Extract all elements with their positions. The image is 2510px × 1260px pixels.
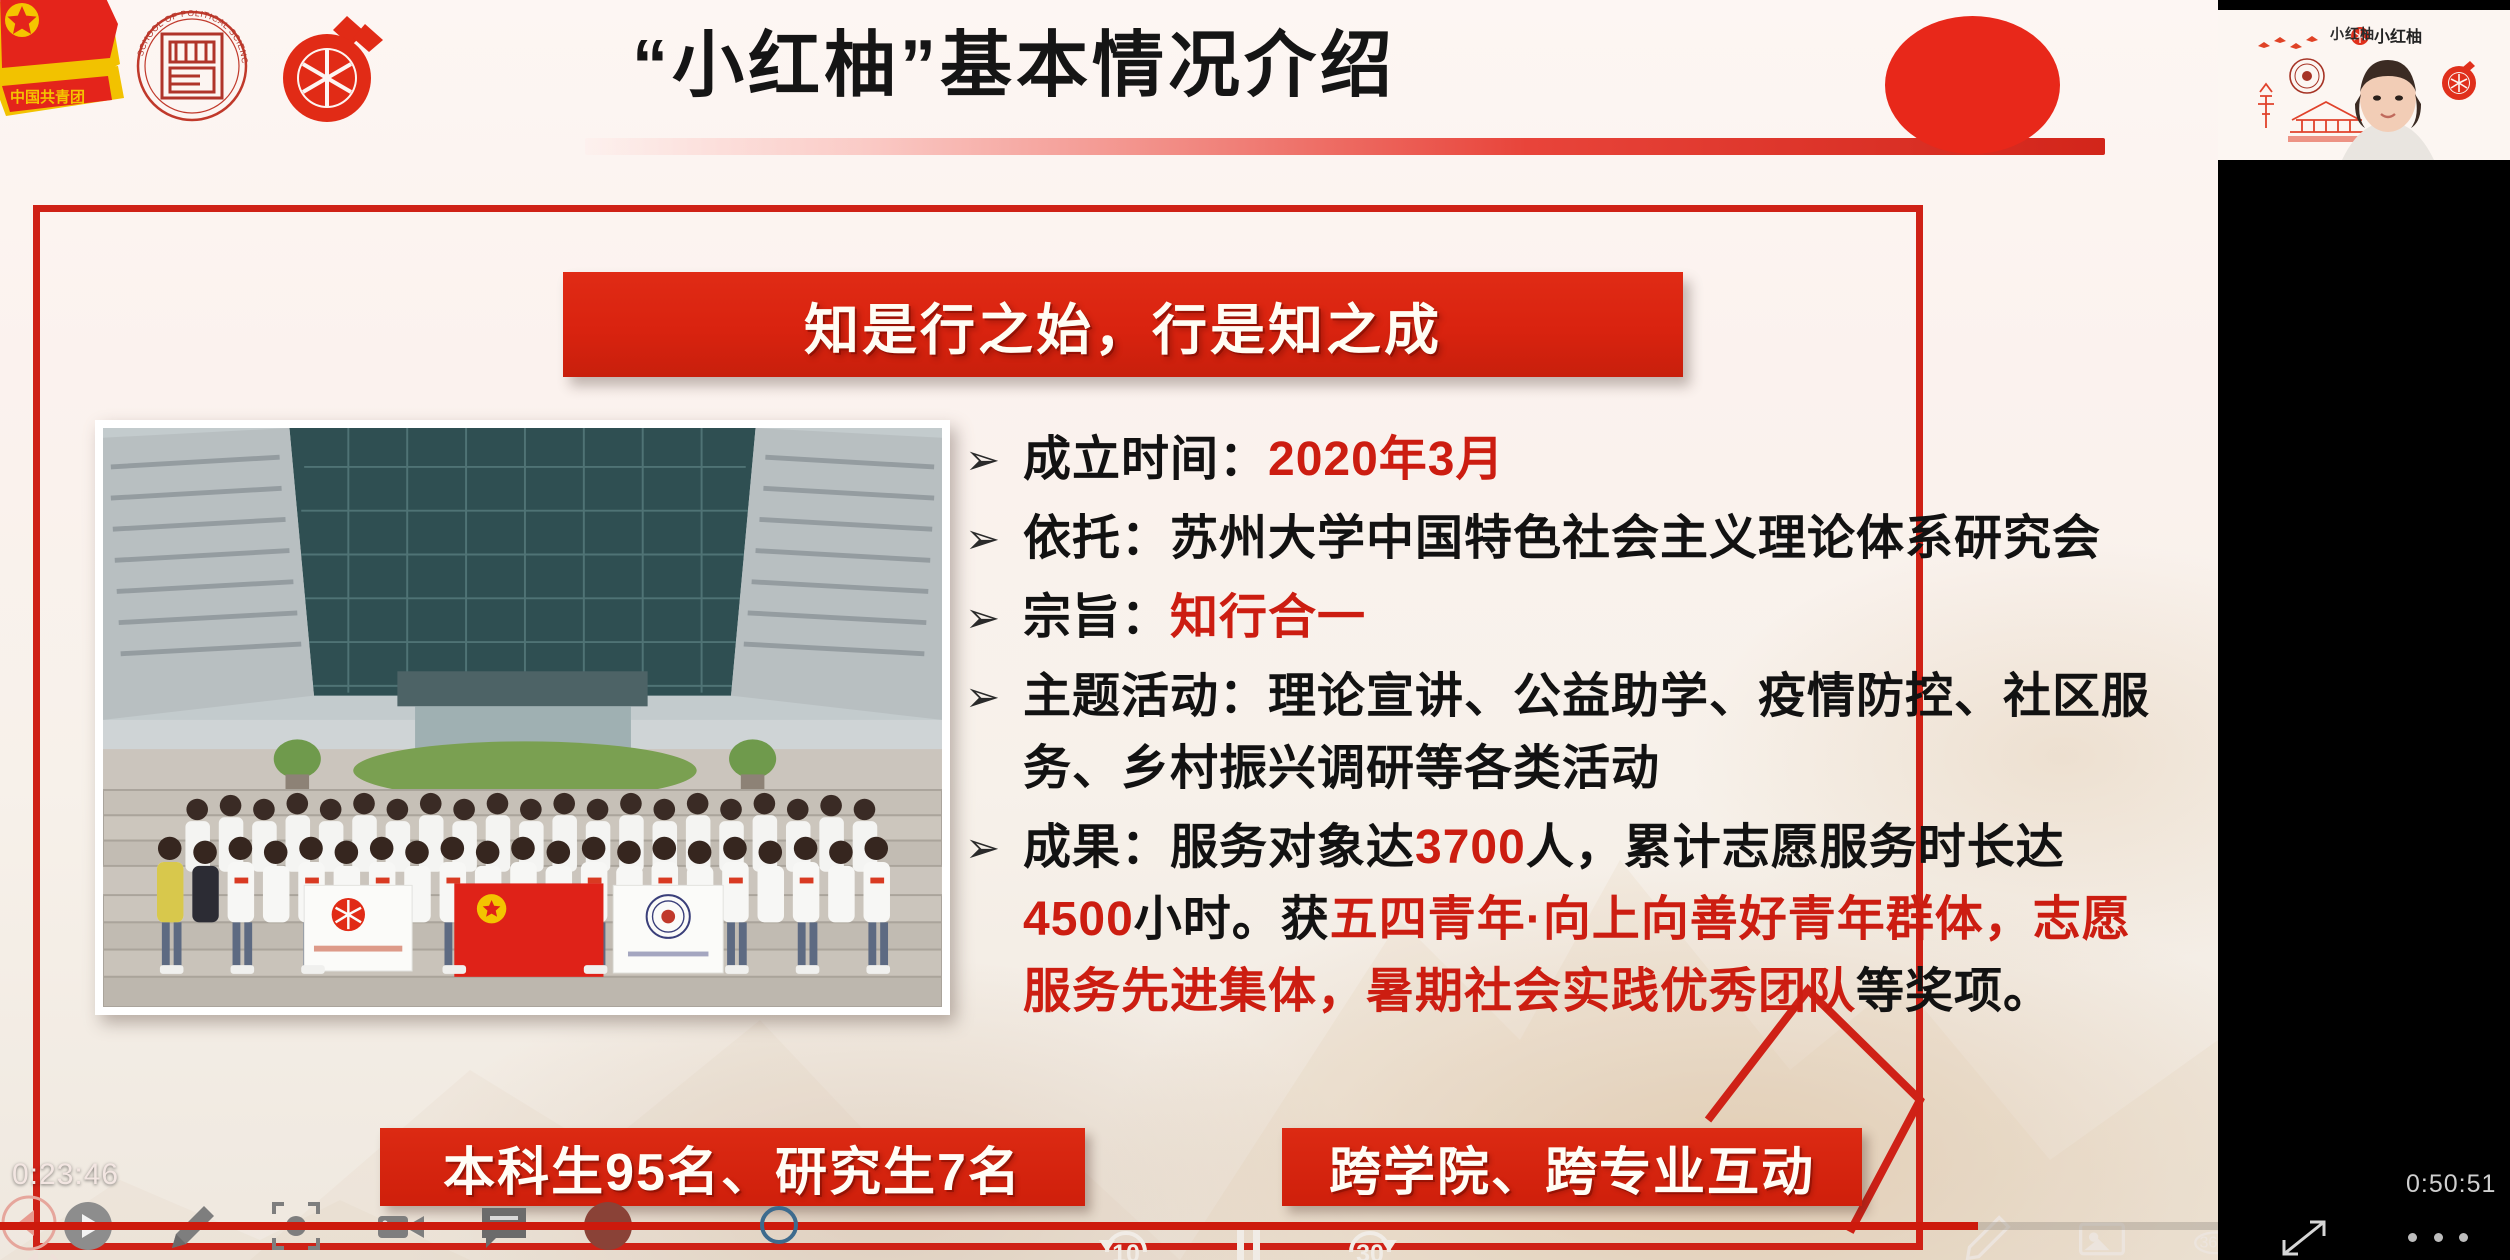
bullet-segment: 成果：服务对象达 xyxy=(1023,821,1415,874)
title-underline-rule xyxy=(585,138,2105,155)
bullet-segment: 成立时间： xyxy=(1023,433,1268,486)
slide-stage[interactable]: 中国共青团 SCHOOL OF POLITICAL SCIENCE AND PU… xyxy=(0,0,2218,1260)
arrow-bullet-icon: ➢ xyxy=(965,582,1023,654)
right-tool-group: 360° xyxy=(1960,1210,2218,1260)
group-photo xyxy=(95,420,950,1015)
bullet-segment-highlight: 3700 xyxy=(1415,821,1526,874)
list-item-text: 依托：苏州大学中国特色社会主义理论体系研究会 xyxy=(1023,503,2155,575)
bullet-segment: 依托：苏州大学中国特色社会主义理论体系研究会 xyxy=(1023,512,2101,565)
ellipsis-icon xyxy=(2459,1233,2468,1242)
forward-30-label: 30 xyxy=(1339,1240,1401,1260)
progress-scrubber-fill xyxy=(0,1222,1978,1230)
bullet-segment-highlight: 2020年3月 xyxy=(1268,433,1504,486)
slide-header: 中国共青团 SCHOOL OF POLITICAL SCIENCE AND PU… xyxy=(0,0,2218,170)
presenter-brand-label: 小红柚 xyxy=(2330,24,2375,44)
screenshot-button[interactable] xyxy=(2074,1210,2130,1260)
title-red-circle-decoration xyxy=(1885,16,2060,154)
elapsed-time: 0:23:46 xyxy=(12,1158,119,1192)
arrow-bullet-icon: ➢ xyxy=(965,661,1023,733)
bullet-segment: 等奖项。 xyxy=(1856,965,2052,1018)
stat-pill-cross-discipline-text: 跨学院、跨专业互动 xyxy=(1329,1130,1815,1205)
participant-sidebar: 小红柚 xyxy=(2218,0,2510,1260)
progress-scrubber[interactable] xyxy=(0,1222,2218,1230)
slide-banner-text: 知是行之始，行是知之成 xyxy=(804,285,1442,365)
bullet-segment: 小时。获 xyxy=(1134,893,1330,946)
list-item: ➢ 宗旨：知行合一 xyxy=(965,582,2155,654)
list-item: ➢ 成果：服务对象达3700人，累计志愿服务时长达4500小时。获五四青年·向上… xyxy=(965,812,2155,1028)
group-photo-illustration xyxy=(103,428,942,1007)
list-item: ➢ 成立时间：2020年3月 xyxy=(965,424,2155,496)
stat-pill-students: 本科生95名、研究生7名 xyxy=(380,1128,1085,1206)
bullet-segment: 宗旨： xyxy=(1023,591,1170,644)
bullet-segment-highlight: 4500 xyxy=(1023,893,1134,946)
arrow-bullet-icon: ➢ xyxy=(965,503,1023,575)
ellipsis-icon xyxy=(2434,1233,2443,1242)
rewind-10-label: 10 xyxy=(1095,1240,1157,1260)
draw-pencil-button[interactable] xyxy=(1960,1210,2016,1260)
arrow-bullet-icon: ➢ xyxy=(965,424,1023,496)
ellipsis-icon xyxy=(2408,1233,2417,1242)
stat-pill-students-text: 本科生95名、研究生7名 xyxy=(443,1130,1022,1205)
list-item-text: 成立时间：2020年3月 xyxy=(1023,424,2155,496)
rotate-360-button[interactable]: 360° xyxy=(2188,1210,2218,1260)
recording-player-root: 中国共青团 SCHOOL OF POLITICAL SCIENCE AND PU… xyxy=(0,0,2510,1260)
bullet-segment: 主题活动：理论宣讲、公益助学、疫情防控、社区服务、乡村振兴调研等各类活动 xyxy=(1023,670,2150,795)
total-time: 0:50:51 xyxy=(2406,1170,2496,1199)
bullet-list: ➢ 成立时间：2020年3月 ➢ 依托：苏州大学中国特色社会主义理论体系研究会 … xyxy=(965,424,2155,1035)
bullet-segment: 人，累计志愿服务时长达 xyxy=(1526,821,2065,874)
page-title: “小红柚”基本情况介绍 xyxy=(632,30,1396,102)
overflow-menu-button[interactable] xyxy=(2408,1222,2468,1252)
list-item-text: 宗旨：知行合一 xyxy=(1023,582,2155,654)
bullet-segment-highlight: 知行合一 xyxy=(1170,591,1366,644)
arrow-bullet-icon: ➢ xyxy=(965,812,1023,884)
presenter-webcam-tile[interactable]: 小红柚 xyxy=(2218,10,2510,160)
svg-text:小红柚: 小红柚 xyxy=(2374,27,2422,46)
presenter-brand-label-text: 小红柚 xyxy=(2330,24,2375,44)
stat-pill-cross-discipline: 跨学院、跨专业互动 xyxy=(1282,1128,1862,1206)
list-item-text: 主题活动：理论宣讲、公益助学、疫情防控、社区服务、乡村振兴调研等各类活动 xyxy=(1023,661,2155,805)
expand-fullscreen-button[interactable] xyxy=(2278,1214,2330,1260)
list-item-text: 成果：服务对象达3700人，累计志愿服务时长达4500小时。获五四青年·向上向善… xyxy=(1023,812,2155,1028)
list-item: ➢ 依托：苏州大学中国特色社会主义理论体系研究会 xyxy=(965,503,2155,575)
progress-scrubber-handle[interactable] xyxy=(760,1206,798,1244)
slide-banner: 知是行之始，行是知之成 xyxy=(563,272,1683,377)
list-item: ➢ 主题活动：理论宣讲、公益助学、疫情防控、社区服务、乡村振兴调研等各类活动 xyxy=(965,661,2155,805)
svg-text:360°: 360° xyxy=(2199,1235,2218,1252)
